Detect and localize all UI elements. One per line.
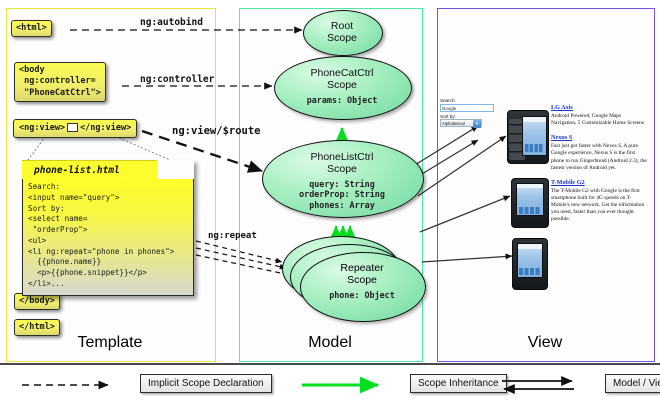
chevron-down-icon: ▾ — [473, 120, 481, 128]
phone-statusbar — [517, 184, 543, 188]
phone-thumbnail-tmobile-g2 — [512, 238, 546, 288]
phone-thumbnail-lg-axis — [507, 110, 547, 162]
scope-properties: phone: Object — [300, 290, 424, 301]
legend-divider — [0, 363, 660, 365]
diagram-canvas: <html> <body ng:controller= "PhoneCatCtr… — [0, 0, 660, 405]
legend-double-arrow-icon — [500, 374, 600, 396]
legend-item-implicit-scope: Implicit Scope Declaration — [20, 374, 130, 396]
legend: Implicit Scope Declaration Scope Inherit… — [0, 366, 660, 405]
label-ng-repeat: ng:repeat — [208, 231, 257, 241]
scope-name: PhoneListCtrl Scope — [262, 149, 422, 176]
phone-app-icons — [519, 207, 542, 214]
legend-item-data-binding: Model / View Data-binding — [500, 374, 600, 396]
code-card-source: Search: <input name="query"> Sort by: <s… — [22, 179, 194, 296]
code-card-filename: phone-list.html — [22, 160, 157, 179]
scope-name: PhoneCatCtrl Scope — [274, 65, 410, 92]
phone-list-code-card: phone-list.html Search: <input name="que… — [22, 160, 194, 296]
phone-snippet: The T-Mobile G2 with Google is the first… — [551, 188, 647, 224]
search-input[interactable]: Google — [440, 104, 494, 112]
legend-label: Model / View Data-binding — [605, 374, 660, 393]
scope-properties: query: String orderProp: String phones: … — [262, 179, 422, 211]
phone-snippet: Fast just got faster with Nexus S. A pur… — [551, 143, 647, 172]
html-close-tag-box: </html> — [14, 319, 60, 336]
label-ng-view-route: ng:view/$route — [172, 125, 261, 137]
list-item: LG Axis Android Powered, Google Maps Nav… — [551, 104, 647, 127]
list-item: T-Mobile G2 The T-Mobile G2 with Google … — [551, 179, 647, 224]
ngview-tag-box: <ng:view></ng:view> — [13, 119, 137, 138]
scope-repeater-stack: Repeater Scope phone: Object — [282, 234, 424, 320]
label-ng-controller: ng:controller — [140, 74, 214, 85]
scope-phonelistctrl: PhoneListCtrl Scope query: String orderP… — [262, 140, 422, 216]
wire-bind-phone-2 — [420, 196, 510, 232]
phone-link[interactable]: LG Axis — [551, 104, 647, 111]
ngview-placeholder-icon — [67, 123, 78, 132]
legend-label: Scope Inheritance — [410, 374, 507, 393]
scope-root: Root Scope — [303, 10, 381, 54]
rendered-search-form: Search: Google Sort by: Alphabetical▾ — [440, 98, 502, 158]
sort-select[interactable]: Alphabetical▾ — [440, 119, 482, 127]
legend-dashed-arrow-icon — [20, 374, 130, 396]
scope-properties: params: Object — [274, 95, 410, 106]
legend-green-arrow-icon — [300, 374, 405, 396]
phone-screen — [517, 243, 543, 278]
scope-phonecatctrl: PhoneCatCtrl Scope params: Object — [274, 56, 410, 118]
html-tag-box: <html> — [11, 20, 52, 37]
scope-name: Repeater Scope — [300, 252, 424, 287]
scope-name: Root Scope — [303, 18, 381, 45]
phone-link[interactable]: T-Mobile G2 — [551, 179, 647, 186]
wire-repeat-1 — [196, 241, 282, 262]
wire-bind-phone-3 — [422, 256, 512, 262]
phone-app-icons — [519, 268, 541, 275]
ngview-open-tag: <ng:view> — [19, 123, 65, 133]
ngview-close-tag: </ng:view> — [80, 123, 131, 133]
label-ng-autobind: ng:autobind — [140, 17, 203, 28]
legend-label: Implicit Scope Declaration — [140, 374, 272, 393]
list-item: Nexus S Fast just got faster with Nexus … — [551, 134, 647, 172]
phone-snippet: Android Powered, Google Maps Navigation,… — [551, 113, 647, 127]
phone-screen — [516, 183, 544, 217]
phone-statusbar — [523, 117, 545, 122]
body-tag-box: <body ng:controller= "PhoneCatCtrl"> — [14, 62, 106, 102]
legend-item-scope-inheritance: Scope Inheritance — [300, 374, 405, 396]
phone-statusbar — [518, 244, 542, 249]
phone-thumbnail-nexus-s — [511, 178, 547, 226]
phone-link[interactable]: Nexus S — [551, 134, 647, 141]
phone-app-icons — [525, 144, 545, 152]
phone-screen — [522, 116, 546, 155]
phone-listing: LG Axis Android Powered, Google Maps Nav… — [551, 104, 647, 230]
sort-select-value: Alphabetical — [442, 121, 465, 126]
